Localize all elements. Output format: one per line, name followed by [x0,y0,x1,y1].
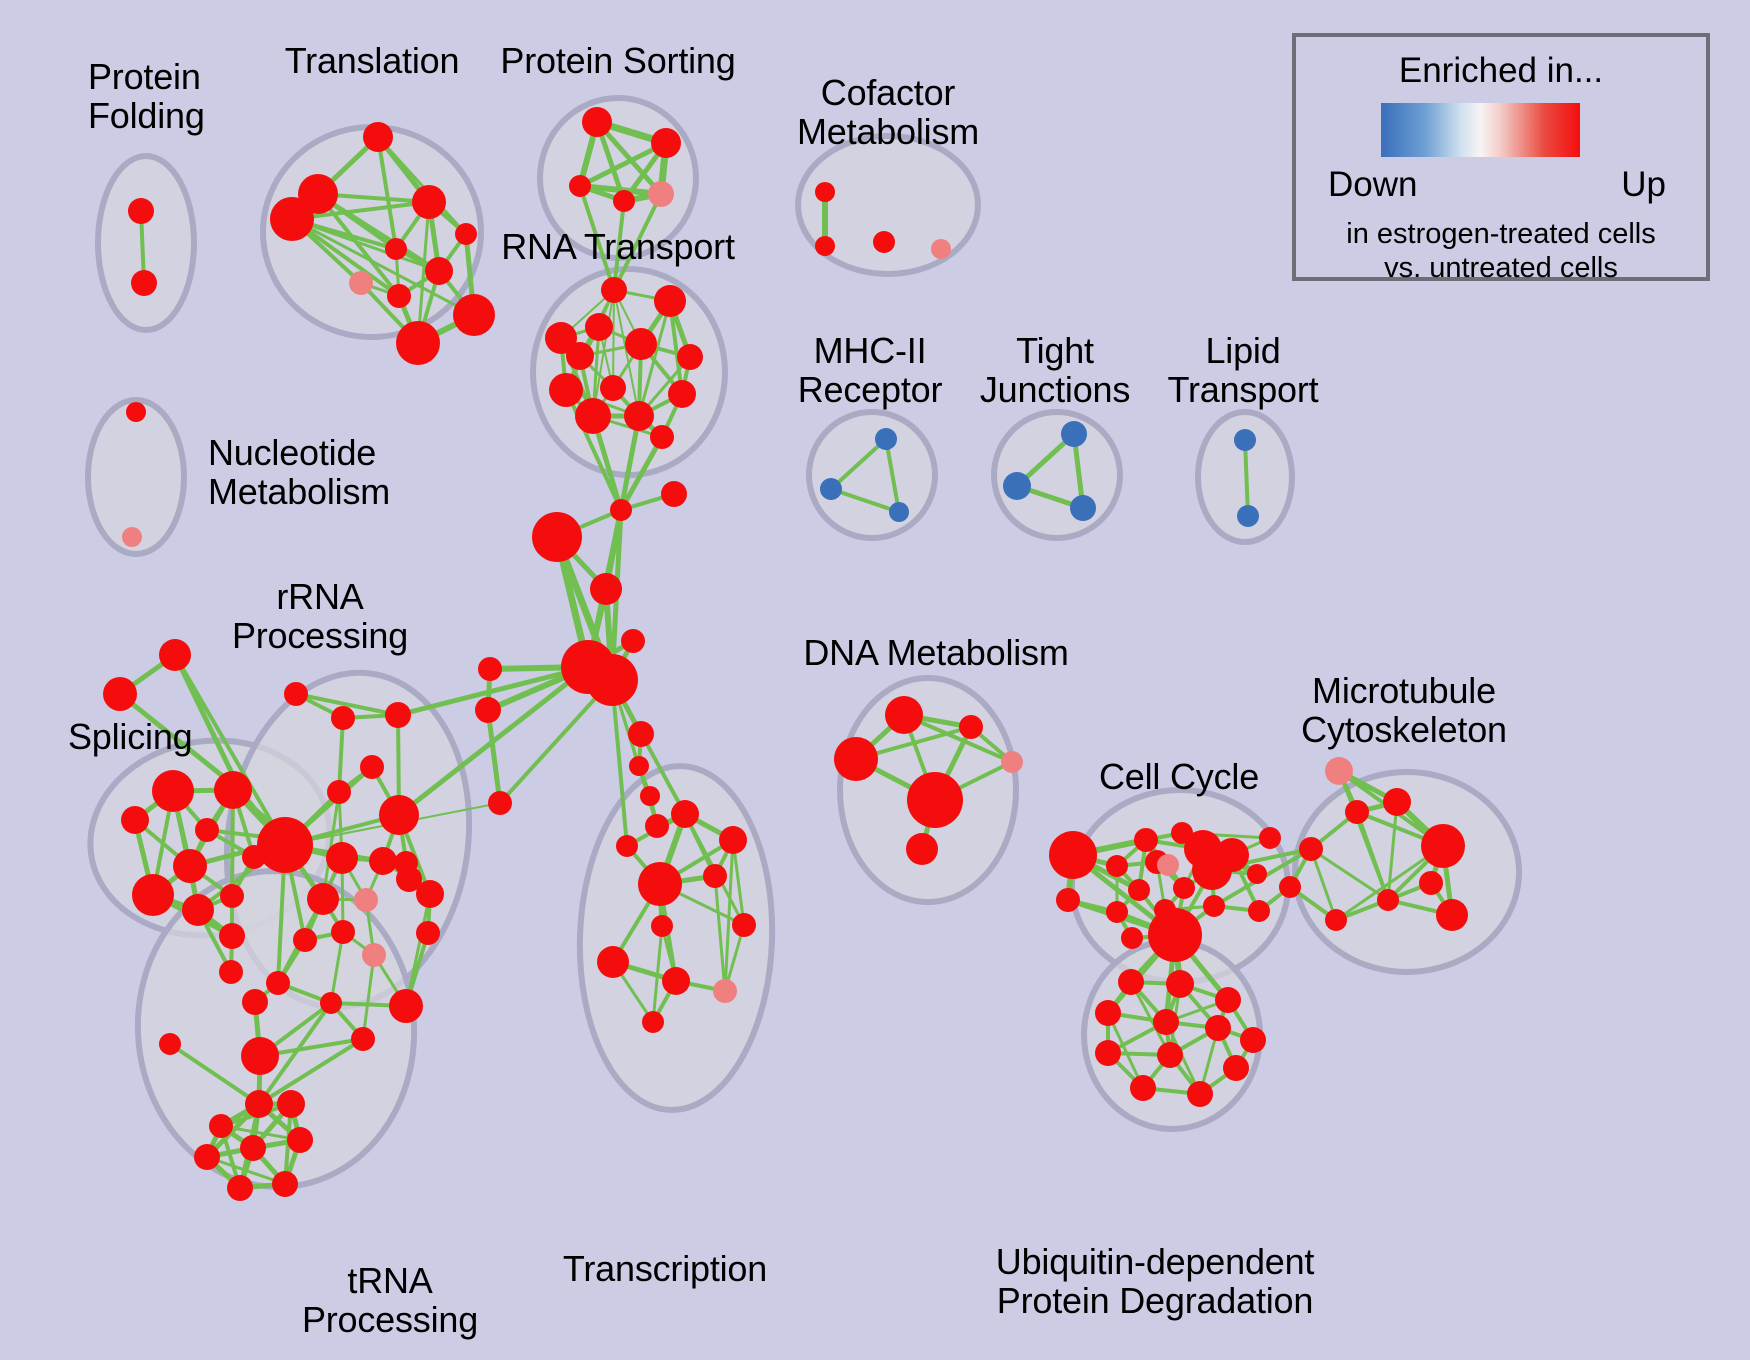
node-translation-7[interactable] [349,271,373,295]
cluster-hull-rna-transport [533,269,725,475]
node-dna-metabolism-11[interactable] [906,833,938,865]
node-protein-sorting-4[interactable] [648,181,674,207]
node-rna-transport-9[interactable] [668,380,696,408]
node-cell-cycle-19[interactable] [1259,827,1281,849]
node-trna-processing-5[interactable] [240,1135,266,1161]
node-cell-cycle-18[interactable] [1121,927,1143,949]
node-splicing-9[interactable] [182,894,214,926]
node-lipid-transport-0[interactable] [1234,429,1256,451]
node-cell-cycle-15[interactable] [1203,895,1225,917]
node-nucleotide-metabolism-1[interactable] [122,527,142,547]
node-rrna-processing-20[interactable] [389,989,423,1023]
cluster-label-translation: Translation [285,42,460,81]
node-transcription-7[interactable] [662,967,690,995]
node-rrna-processing-12[interactable] [354,888,378,912]
node-cell-cycle-11[interactable] [1247,864,1267,884]
node-rrna-processing-22[interactable] [351,1027,375,1051]
node-transcription-2[interactable] [616,835,638,857]
node-rrna-processing-23[interactable] [241,1037,279,1075]
node-rna-transport-3[interactable] [625,328,657,360]
node-rrna-processing-1[interactable] [331,706,355,730]
node-bridge-0[interactable] [610,499,632,521]
node-rrna-processing-19[interactable] [320,992,342,1014]
node-transcription-3[interactable] [638,862,682,906]
node-cell-cycle-9[interactable] [1128,879,1150,901]
cluster-label-dna-metabolism: DNA Metabolism [803,634,1068,673]
node-bridge-9[interactable] [475,697,501,723]
node-ubiquitin-protein-degradation-8[interactable] [1157,1042,1183,1068]
node-bridge-2[interactable] [590,573,622,605]
node-transcription-1[interactable] [719,826,747,854]
node-trna-processing-2[interactable] [209,1114,233,1138]
node-translation-5[interactable] [385,238,407,260]
legend-subtitle-line1: in estrogen-treated cells [1346,218,1656,250]
node-cofactor-metabolism-0[interactable] [815,182,835,202]
node-rrna-processing-3[interactable] [360,755,384,779]
node-microtubule-cytoskeleton-9[interactable] [1325,909,1347,931]
node-translation-4[interactable] [455,223,477,245]
node-trna-processing-3[interactable] [277,1090,305,1118]
node-ubiquitin-protein-degradation-6[interactable] [1240,1027,1266,1053]
node-cell-cycle-16[interactable] [1148,908,1202,962]
node-protein-sorting-3[interactable] [613,190,635,212]
cluster-label-protein-folding: ProteinFolding [88,58,205,136]
node-splicing-7[interactable] [132,874,174,916]
cluster-label-lipid-transport: LipidTransport [1168,332,1319,410]
node-rrna-processing-11[interactable] [307,883,339,915]
node-splicing-5[interactable] [195,818,219,842]
node-ubiquitin-protein-degradation-11[interactable] [1187,1081,1213,1107]
node-cell-cycle-3[interactable] [1106,855,1128,877]
node-bridge-13[interactable] [645,814,669,838]
node-ubiquitin-protein-degradation-9[interactable] [1223,1055,1249,1081]
legend-subtitle-line2: vs. untreated cells [1384,252,1618,284]
node-cell-cycle-1[interactable] [1134,828,1158,852]
legend-up-label: Up [1621,165,1666,205]
node-tight-junctions-2[interactable] [1070,495,1096,521]
cluster-label-microtubule-cytoskeleton: MicrotubuleCytoskeleton [1301,672,1507,750]
node-translation-10[interactable] [396,321,440,365]
node-translation-6[interactable] [425,257,453,285]
node-splicing-12[interactable] [219,960,243,984]
node-dna-metabolism-10[interactable] [907,772,963,828]
node-rrna-processing-7[interactable] [326,842,358,874]
node-dna-metabolism-3[interactable] [1001,751,1023,773]
node-rrna-processing-15[interactable] [331,920,355,944]
node-ubiquitin-protein-degradation-0[interactable] [1118,969,1144,995]
node-rna-transport-1[interactable] [654,285,686,317]
node-cell-cycle-17[interactable] [1248,900,1270,922]
node-rna-transport-10[interactable] [575,398,611,434]
node-microtubule-cytoskeleton-0[interactable] [1325,757,1353,785]
node-bridge-11[interactable] [629,756,649,776]
node-rna-transport-12[interactable] [650,425,674,449]
node-cofactor-metabolism-2[interactable] [873,231,895,253]
node-rrna-processing-13[interactable] [416,880,444,908]
node-tight-junctions-0[interactable] [1061,421,1087,447]
node-rrna-processing-2[interactable] [385,702,411,728]
node-translation-3[interactable] [270,197,314,241]
node-trna-processing-7[interactable] [227,1175,253,1201]
node-protein-sorting-0[interactable] [582,107,612,137]
node-splicing-4[interactable] [121,806,149,834]
cluster-label-cofactor-metabolism: CofactorMetabolism [797,74,979,152]
node-microtubule-cytoskeleton-5[interactable] [1377,889,1399,911]
node-splicing-10[interactable] [220,884,244,908]
enrichment-map-figure: Enriched in... Down Up in estrogen-treat… [0,0,1750,1360]
node-bridge-5[interactable] [628,721,654,747]
node-rna-transport-6[interactable] [677,344,703,370]
node-mhc-ii-receptor-0[interactable] [875,428,897,450]
node-cell-cycle-12[interactable] [1056,888,1080,912]
node-rrna-processing-16[interactable] [416,921,440,945]
node-transcription-8[interactable] [713,979,737,1003]
legend-color-gradient-bar [1381,103,1580,157]
node-translation-9[interactable] [453,294,495,336]
node-transcription-10[interactable] [732,913,756,937]
node-bridge-10[interactable] [488,791,512,815]
node-translation-8[interactable] [387,284,411,308]
node-transcription-6[interactable] [597,946,629,978]
node-splicing-6[interactable] [173,849,207,883]
node-translation-0[interactable] [363,122,393,152]
node-splicing-1[interactable] [103,677,137,711]
cluster-label-transcription: Transcription [563,1250,767,1289]
node-nucleotide-metabolism-0[interactable] [126,402,146,422]
node-bridge-1[interactable] [661,481,687,507]
node-protein-sorting-2[interactable] [569,175,591,197]
node-bridge-7[interactable] [586,654,638,706]
node-splicing-14[interactable] [229,779,251,801]
node-splicing-11[interactable] [219,923,245,949]
node-microtubule-cytoskeleton-8[interactable] [1279,876,1301,898]
node-rna-transport-11[interactable] [624,401,654,431]
node-rrna-processing-14[interactable] [293,928,317,952]
node-ubiquitin-protein-degradation-4[interactable] [1153,1009,1179,1035]
node-rrna-processing-21[interactable] [242,989,268,1015]
cluster-label-nucleotide-metabolism: NucleotideMetabolism [208,434,390,512]
node-trna-processing-6[interactable] [287,1127,313,1153]
legend-down-label: Down [1328,165,1417,205]
node-cell-cycle-10[interactable] [1173,877,1195,899]
node-trna-processing-8[interactable] [272,1171,298,1197]
node-cofactor-metabolism-3[interactable] [931,239,951,259]
node-cell-cycle-13[interactable] [1106,901,1128,923]
edge-bridge [488,710,500,803]
node-rrna-processing-4[interactable] [327,780,351,804]
legend-subtitle: in estrogen-treated cellsvs. untreated c… [1296,217,1706,285]
node-transcription-0[interactable] [671,800,699,828]
edge-rna-transport [613,290,614,388]
node-rna-transport-0[interactable] [601,277,627,303]
node-splicing-3[interactable] [152,770,194,812]
node-lipid-transport-1[interactable] [1237,505,1259,527]
node-splicing-0[interactable] [159,639,191,671]
legend-title: Enriched in... [1296,51,1706,91]
node-rrna-processing-5[interactable] [379,795,419,835]
node-cell-cycle-0[interactable] [1049,831,1097,879]
node-dna-metabolism-0[interactable] [885,696,923,734]
node-rna-transport-2[interactable] [585,313,613,341]
node-rna-transport-8[interactable] [600,375,626,401]
node-rna-transport-5[interactable] [566,342,594,370]
cluster-label-splicing: Splicing [68,718,192,757]
node-dna-metabolism-2[interactable] [834,737,878,781]
node-protein-folding-1[interactable] [131,270,157,296]
cluster-label-cell-cycle: Cell Cycle [1099,758,1259,797]
node-microtubule-cytoskeleton-4[interactable] [1419,871,1443,895]
node-bridge-12[interactable] [640,786,660,806]
node-rrna-processing-17[interactable] [362,943,386,967]
node-transcription-5[interactable] [651,915,673,937]
node-trna-processing-4[interactable] [194,1144,220,1170]
node-microtubule-cytoskeleton-7[interactable] [1436,899,1468,931]
cluster-label-mhc-ii-receptor: MHC-IIReceptor [798,332,942,410]
legend-box: Enriched in... Down Up in estrogen-treat… [1292,33,1710,281]
node-rrna-processing-0[interactable] [284,682,308,706]
node-ubiquitin-protein-degradation-10[interactable] [1130,1075,1156,1101]
node-ubiquitin-protein-degradation-5[interactable] [1205,1015,1231,1041]
node-transcription-9[interactable] [642,1011,664,1033]
node-trna-processing-0[interactable] [159,1033,181,1055]
node-rrna-processing-18[interactable] [266,971,290,995]
node-trna-processing-1[interactable] [245,1090,273,1118]
node-ubiquitin-protein-degradation-1[interactable] [1166,970,1194,998]
node-bridge-4[interactable] [621,629,645,653]
node-cofactor-metabolism-1[interactable] [815,236,835,256]
node-tight-junctions-1[interactable] [1003,472,1031,500]
node-ubiquitin-protein-degradation-7[interactable] [1095,1040,1121,1066]
node-microtubule-cytoskeleton-1[interactable] [1383,788,1411,816]
node-rrna-processing-6[interactable] [257,817,313,873]
node-mhc-ii-receptor-1[interactable] [820,478,842,500]
node-bridge-3[interactable] [532,512,582,562]
node-cell-cycle-8[interactable] [1157,854,1179,876]
node-microtubule-cytoskeleton-3[interactable] [1421,824,1465,868]
node-protein-sorting-1[interactable] [651,128,681,158]
cluster-label-tight-junctions: TightJunctions [980,332,1130,410]
cluster-label-rrna-processing: rRNAProcessing [232,578,408,656]
node-ubiquitin-protein-degradation-2[interactable] [1215,987,1241,1013]
node-ubiquitin-protein-degradation-3[interactable] [1095,1000,1121,1026]
cluster-hull-mhc-ii-receptor [809,412,935,538]
cluster-label-rna-transport: RNA Transport [501,228,735,267]
node-rrna-processing-8[interactable] [369,847,397,875]
node-cell-cycle-7[interactable] [1192,850,1232,890]
node-protein-folding-0[interactable] [128,198,154,224]
node-transcription-4[interactable] [703,864,727,888]
cluster-label-trna-processing: tRNAProcessing [302,1262,478,1340]
cluster-label-ubiquitin-protein-degradation: Ubiquitin-dependentProtein Degradation [996,1243,1314,1321]
node-translation-2[interactable] [412,185,446,219]
node-rna-transport-7[interactable] [549,373,583,407]
node-mhc-ii-receptor-2[interactable] [889,502,909,522]
node-dna-metabolism-1[interactable] [959,715,983,739]
node-microtubule-cytoskeleton-6[interactable] [1299,837,1323,861]
node-microtubule-cytoskeleton-2[interactable] [1345,800,1369,824]
node-bridge-8[interactable] [478,657,502,681]
cluster-label-protein-sorting: Protein Sorting [500,42,735,81]
cluster-hull-protein-folding [98,156,194,330]
